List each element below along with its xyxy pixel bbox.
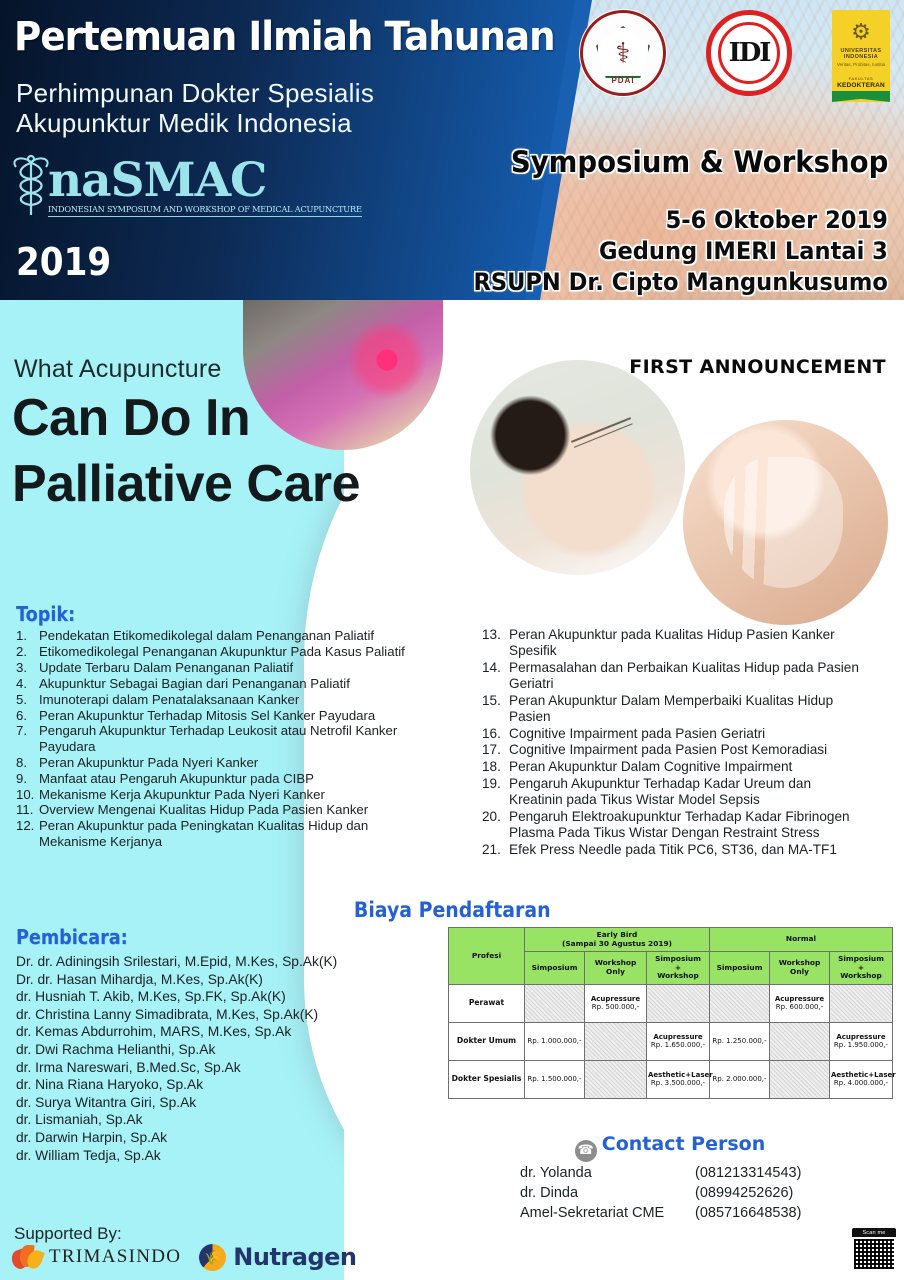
topic-item-number: 8. bbox=[16, 755, 39, 770]
fees-col-n-workshop: Workshop Only bbox=[770, 952, 830, 985]
sponsor-nutragen-name: Nutragen bbox=[233, 1243, 356, 1271]
ui-university-name: UNIVERSITAS INDONESIA bbox=[832, 48, 890, 60]
topic-item-text: Imunoterapi dalam Penatalaksanaan Kanker bbox=[39, 692, 416, 707]
contact-list: dr. Yolanda(081213314543)dr. Dinda(08994… bbox=[520, 1163, 860, 1223]
fees-cell: AcupressureRp. 500.000,- bbox=[585, 984, 647, 1022]
contact-row: dr. Yolanda(081213314543) bbox=[520, 1163, 860, 1183]
topics-heading: Topik: bbox=[16, 602, 368, 626]
fees-cell-price: Rp. 1.500.000,- bbox=[527, 1075, 581, 1083]
topic-item: 17.Cognitive Impairment pada Pasien Post… bbox=[482, 742, 862, 758]
fees-group-early-bird: Early Bird (Sampai 30 Agustus 2019) bbox=[525, 928, 710, 952]
contact-heading-text: Contact Person bbox=[602, 1133, 765, 1155]
qr-code-icon[interactable] bbox=[852, 1237, 896, 1271]
idi-label: IDI bbox=[718, 22, 780, 84]
fees-cell-price: Rp. 1.650.000,- bbox=[651, 1041, 705, 1049]
speaker-item: dr. Husniah T. Akib, M.Kes, Sp.FK, Sp.Ak… bbox=[16, 988, 436, 1006]
topic-item-number: 20. bbox=[482, 809, 509, 841]
idi-logo-icon: IDI bbox=[706, 10, 792, 96]
pdai-snake-icon: ⚕ bbox=[615, 37, 630, 70]
topic-item-text: Peran Akupunktur Dalam Cognitive Impairm… bbox=[509, 759, 862, 775]
theme-headline-line2: Palliative Care bbox=[12, 451, 360, 517]
event-details: 5-6 Oktober 2019 Gedung IMERI Lantai 3 R… bbox=[474, 205, 888, 298]
topic-item-text: Peran Akupunktur Pada Nyeri Kanker bbox=[39, 755, 416, 770]
qr-scan-label: Scan me bbox=[852, 1228, 896, 1237]
first-announcement-badge: FIRST ANNOUNCEMENT bbox=[629, 356, 886, 378]
page-title: Pertemuan Ilmiah Tahunan bbox=[14, 14, 555, 60]
contact-name: Amel-Sekretariat CME bbox=[520, 1203, 695, 1223]
contact-phone[interactable]: (085716648538) bbox=[695, 1203, 801, 1223]
fees-cell-label: Aesthetic+Laser bbox=[831, 1071, 891, 1079]
fees-col-n-simposium: Simposium bbox=[710, 952, 770, 985]
fees-col-n-combo-l3: Workshop bbox=[831, 972, 891, 981]
speaker-item: dr. William Tedja, Sp.Ak bbox=[16, 1147, 436, 1165]
topic-item-number: 15. bbox=[482, 693, 509, 725]
fees-col-n-workshop-l2: Only bbox=[771, 968, 828, 977]
nasmac-logo: naSMAC INDONESIAN SYMPOSIUM AND WORKSHOP… bbox=[8, 155, 375, 217]
fees-cell-label: Aesthetic+Laser bbox=[648, 1071, 708, 1079]
topic-item-number: 10. bbox=[16, 787, 39, 802]
topic-item: 5.Imunoterapi dalam Penatalaksanaan Kank… bbox=[16, 692, 416, 707]
fees-cell: Aesthetic+LaserRp. 4.000.000,- bbox=[830, 1060, 893, 1098]
contact-name: dr. Yolanda bbox=[520, 1163, 695, 1183]
fees-cell: AcupressureRp. 1.950.000,- bbox=[830, 1022, 893, 1060]
event-venue-line1: Gedung IMERI Lantai 3 bbox=[474, 236, 888, 267]
topic-item: 16.Cognitive Impairment pada Pasien Geri… bbox=[482, 726, 862, 742]
fees-table-body: PerawatAcupressureRp. 500.000,-Acupressu… bbox=[449, 984, 893, 1098]
fees-table-header-row-1: Profesi Early Bird (Sampai 30 Agustus 20… bbox=[449, 928, 893, 952]
topic-item-number: 19. bbox=[482, 776, 509, 808]
makara-icon: ⚙ bbox=[851, 19, 871, 45]
fees-cell: AcupressureRp. 1.650.000,- bbox=[647, 1022, 710, 1060]
topics-list-left: 1.Pendekatan Etikomedikolegal dalam Pena… bbox=[16, 628, 416, 849]
supported-by-label: Supported By: bbox=[14, 1224, 122, 1244]
topic-item: 6.Peran Akupunktur Terhadap Mitosis Sel … bbox=[16, 708, 416, 723]
topic-item-number: 14. bbox=[482, 660, 509, 692]
speaker-item: dr. Kemas Abdurrohim, MARS, M.Kes, Sp.Ak bbox=[16, 1023, 436, 1041]
fees-cell-price: Rp. 1.950.000,- bbox=[834, 1041, 888, 1049]
fees-cell: Rp. 1.000.000,- bbox=[525, 1022, 585, 1060]
topic-item-number: 9. bbox=[16, 771, 39, 786]
topic-item: 12.Peran Akupunktur pada Peningkatan Kua… bbox=[16, 818, 416, 849]
topic-item: 7.Pengaruh Akupunktur Terhadap Leukosit … bbox=[16, 723, 416, 754]
topic-item-text: Cognitive Impairment pada Pasien Post Ke… bbox=[509, 742, 862, 758]
sponsor-logos: TRIMASINDO 🌾 Nutragen bbox=[12, 1243, 357, 1271]
topic-item: 4.Akupunktur Sebagai Bagian dari Penanga… bbox=[16, 676, 416, 691]
fees-group-normal: Normal bbox=[710, 928, 893, 952]
fees-cell-label: Acupressure bbox=[771, 995, 828, 1003]
topic-item-text: Pengaruh Akupunktur Terhadap Kadar Ureum… bbox=[509, 776, 862, 808]
fees-cell bbox=[525, 984, 585, 1022]
topic-item: 2.Etikomedikolegal Penanganan Akupunktur… bbox=[16, 644, 416, 659]
speaker-item: dr. Christina Lanny Simadibrata, M.Kes, … bbox=[16, 1006, 436, 1024]
topic-item-text: Peran Akupunktur pada Kualitas Hidup Pas… bbox=[509, 627, 862, 659]
speakers-list: Dr. dr. Adiningsih Srilestari, M.Epid, M… bbox=[16, 953, 436, 1164]
trimasindo-flower-icon bbox=[12, 1244, 42, 1270]
qr-code-block[interactable]: Scan me bbox=[852, 1228, 896, 1271]
speaker-item: dr. Lismaniah, Sp.Ak bbox=[16, 1111, 436, 1129]
contact-phone[interactable]: (08994252626) bbox=[695, 1183, 793, 1203]
speaker-item: dr. Darwin Harpin, Sp.Ak bbox=[16, 1129, 436, 1147]
topic-item-text: Manfaat atau Pengaruh Akupunktur pada CI… bbox=[39, 771, 416, 786]
topics-list-right: 13.Peran Akupunktur pada Kualitas Hidup … bbox=[482, 627, 862, 858]
fees-cell-price: Rp. 600.000,- bbox=[776, 1003, 823, 1011]
topic-item-text: Efek Press Needle pada Titik PC6, ST36, … bbox=[509, 842, 862, 858]
fees-cell: Rp. 2.000.000,- bbox=[710, 1060, 770, 1098]
fees-cell bbox=[770, 1022, 830, 1060]
fees-cell-label: Acupressure bbox=[586, 995, 645, 1003]
contact-phone[interactable]: (081213314543) bbox=[695, 1163, 801, 1183]
topic-item-number: 1. bbox=[16, 628, 39, 643]
topic-item-text: Pengaruh Elektroakupunktur Terhadap Kada… bbox=[509, 809, 862, 841]
topic-item: 13.Peran Akupunktur pada Kualitas Hidup … bbox=[482, 627, 862, 659]
fees-cell: Rp. 1.500.000,- bbox=[525, 1060, 585, 1098]
topic-item-number: 5. bbox=[16, 692, 39, 707]
speaker-item: dr. Irma Nareswari, B.Med.Sc, Sp.Ak bbox=[16, 1059, 436, 1077]
nutragen-wheat-icon: 🌾 bbox=[199, 1244, 226, 1271]
ui-motto: Veritas, Probitas, Iustitia bbox=[837, 62, 885, 67]
fees-cell-price: Rp. 500.000,- bbox=[592, 1003, 639, 1011]
topic-item: 21.Efek Press Needle pada Titik PC6, ST3… bbox=[482, 842, 862, 858]
fees-cell-price: Rp. 4.000.000,- bbox=[834, 1079, 888, 1087]
topic-item-number: 21. bbox=[482, 842, 509, 858]
fees-col-eb-combo-l3: Workshop bbox=[648, 972, 708, 981]
speaker-item: dr. Nina Riana Haryoko, Sp.Ak bbox=[16, 1076, 436, 1094]
topic-item-number: 12. bbox=[16, 818, 39, 849]
topic-item-text: Overview Mengenai Kualitas Hidup Pada Pa… bbox=[39, 802, 416, 817]
organization-subtitle-line2: Akupunktur Medik Indonesia bbox=[16, 108, 374, 138]
topic-item-number: 7. bbox=[16, 723, 39, 754]
fees-heading: Biaya Pendaftaran bbox=[0, 898, 904, 922]
topic-item-text: Pengaruh Akupunktur Terhadap Leukosit at… bbox=[39, 723, 416, 754]
contact-row: dr. Dinda(08994252626) bbox=[520, 1183, 860, 1203]
fees-col-eb-workshop-l2: Only bbox=[586, 968, 645, 977]
topic-item: 18.Peran Akupunktur Dalam Cognitive Impa… bbox=[482, 759, 862, 775]
theme-headline-line1: Can Do In bbox=[12, 385, 360, 451]
organizer-logos: ⚕ PDAI IDI ⚙ UNIVERSITAS INDONESIA Verit… bbox=[580, 10, 890, 102]
fees-col-eb-simposium: Simposium bbox=[525, 952, 585, 985]
topic-item-text: Update Terbaru Dalam Penanganan Paliatif bbox=[39, 660, 416, 675]
fees-row-profesi: Dokter Spesialis bbox=[449, 1060, 525, 1098]
fees-row-profesi: Dokter Umum bbox=[449, 1022, 525, 1060]
phone-icon: ☎ bbox=[575, 1140, 597, 1162]
fees-cell bbox=[585, 1022, 647, 1060]
nasmac-logo-text: naSMAC bbox=[48, 159, 375, 204]
fees-col-n-combo: Simposium + Workshop bbox=[830, 952, 893, 985]
fees-cell-price: Rp. 1.250.000,- bbox=[712, 1037, 766, 1045]
speaker-item: dr. Dwi Rachma Helianthi, Sp.Ak bbox=[16, 1041, 436, 1059]
ui-faculty-logo: ⚙ UNIVERSITAS INDONESIA Veritas, Probita… bbox=[832, 10, 890, 102]
topic-item-text: Mekanisme Kerja Akupunktur Pada Nyeri Ka… bbox=[39, 787, 416, 802]
topic-item-text: Permasalahan dan Perbaikan Kualitas Hidu… bbox=[509, 660, 862, 692]
fees-cell: Rp. 1.250.000,- bbox=[710, 1022, 770, 1060]
topic-item-text: Peran Akupunktur pada Peningkatan Kualit… bbox=[39, 818, 416, 849]
fees-cell-label: Acupressure bbox=[648, 1033, 708, 1041]
topic-item: 1.Pendekatan Etikomedikolegal dalam Pena… bbox=[16, 628, 416, 643]
topic-item-number: 11. bbox=[16, 802, 39, 817]
fees-table-row: Dokter UmumRp. 1.000.000,-AcupressureRp.… bbox=[449, 1022, 893, 1060]
fees-cell bbox=[830, 984, 893, 1022]
topic-item-number: 16. bbox=[482, 726, 509, 742]
topic-item-text: Peran Akupunktur Dalam Memperbaiki Kuali… bbox=[509, 693, 862, 725]
theme-pretitle: What Acupuncture bbox=[14, 355, 222, 384]
topics-section-right: 13.Peran Akupunktur pada Kualitas Hidup … bbox=[482, 625, 862, 858]
fees-cell: AcupressureRp. 600.000,- bbox=[770, 984, 830, 1022]
fees-cell: Aesthetic+LaserRp. 3.500.000,- bbox=[647, 1060, 710, 1098]
fees-cell-label: Acupressure bbox=[831, 1033, 891, 1041]
theme-headline: Can Do In Palliative Care bbox=[12, 385, 360, 517]
topic-item: 15.Peran Akupunktur Dalam Memperbaiki Ku… bbox=[482, 693, 862, 725]
topic-item-number: 2. bbox=[16, 644, 39, 659]
speakers-section: Pembicara: Dr. dr. Adiningsih Srilestari… bbox=[16, 925, 436, 1164]
contact-name: dr. Dinda bbox=[520, 1183, 695, 1203]
topic-item: 3.Update Terbaru Dalam Penanganan Paliat… bbox=[16, 660, 416, 675]
fees-cell-price: Rp. 3.500.000,- bbox=[651, 1079, 705, 1087]
topic-item-number: 3. bbox=[16, 660, 39, 675]
event-date: 5-6 Oktober 2019 bbox=[474, 205, 888, 236]
speakers-heading: Pembicara: bbox=[16, 925, 386, 949]
contact-row: Amel-Sekretariat CME(085716648538) bbox=[520, 1203, 860, 1223]
event-type: Symposium & Workshop bbox=[511, 145, 888, 179]
topic-item: 9.Manfaat atau Pengaruh Akupunktur pada … bbox=[16, 771, 416, 786]
fees-cell bbox=[710, 984, 770, 1022]
poster-root: Pertemuan Ilmiah Tahunan Perhimpunan Dok… bbox=[0, 0, 904, 1280]
topic-item-number: 6. bbox=[16, 708, 39, 723]
organization-subtitle-line1: Perhimpunan Dokter Spesialis bbox=[16, 78, 374, 108]
pdai-logo-icon: ⚕ PDAI bbox=[580, 10, 666, 96]
fees-table: Profesi Early Bird (Sampai 30 Agustus 20… bbox=[448, 927, 893, 1099]
fees-row-profesi: Perawat bbox=[449, 984, 525, 1022]
topic-item-text: Etikomedikolegal Penanganan Akupunktur P… bbox=[39, 644, 416, 659]
topic-item-number: 4. bbox=[16, 676, 39, 691]
sponsor-nutragen: 🌾 Nutragen bbox=[199, 1243, 356, 1271]
topic-item-text: Akupunktur Sebagai Bagian dari Penangana… bbox=[39, 676, 416, 691]
fees-cell bbox=[647, 984, 710, 1022]
topic-item: 19.Pengaruh Akupunktur Terhadap Kadar Ur… bbox=[482, 776, 862, 808]
fees-col-eb-workshop: Workshop Only bbox=[585, 952, 647, 985]
fees-group-early-bird-note: (Sampai 30 Agustus 2019) bbox=[526, 940, 708, 949]
topic-item-text: Cognitive Impairment pada Pasien Geriatr… bbox=[509, 726, 862, 742]
speaker-item: Dr. dr. Adiningsih Srilestari, M.Epid, M… bbox=[16, 953, 436, 971]
photo-hand-massage bbox=[683, 420, 888, 625]
topic-item-number: 13. bbox=[482, 627, 509, 659]
topics-section-left: Topik: 1.Pendekatan Etikomedikolegal dal… bbox=[16, 602, 416, 850]
sponsor-trimasindo-name: TRIMASINDO bbox=[49, 1246, 181, 1268]
topic-item: 8.Peran Akupunktur Pada Nyeri Kanker bbox=[16, 755, 416, 770]
topic-item-text: Peran Akupunktur Terhadap Mitosis Sel Ka… bbox=[39, 708, 416, 723]
ui-faculty-label: FAKULTAS bbox=[849, 76, 874, 81]
pdai-label: PDAI bbox=[583, 76, 663, 85]
fees-col-profesi: Profesi bbox=[449, 928, 525, 985]
topic-item-number: 18. bbox=[482, 759, 509, 775]
ui-faculty-name: KEDOKTERAN bbox=[837, 82, 885, 89]
organization-subtitle: Perhimpunan Dokter Spesialis Akupunktur … bbox=[16, 78, 374, 138]
fees-cell-price: Rp. 1.000.000,- bbox=[527, 1037, 581, 1045]
ui-logo-ribbon bbox=[832, 91, 890, 102]
fees-cell-price: Rp. 2.000.000,- bbox=[712, 1075, 766, 1083]
nasmac-logo-tagline: INDONESIAN SYMPOSIUM AND WORKSHOP OF MED… bbox=[48, 205, 362, 217]
fees-cell bbox=[770, 1060, 830, 1098]
topic-item: 10.Mekanisme Kerja Akupunktur Pada Nyeri… bbox=[16, 787, 416, 802]
topic-item: 20.Pengaruh Elektroakupunktur Terhadap K… bbox=[482, 809, 862, 841]
speaker-item: Dr. dr. Hasan Mihardja, M.Kes, Sp.Ak(K) bbox=[16, 971, 436, 989]
photo-facial-acupuncture bbox=[470, 360, 685, 575]
poster-header: Pertemuan Ilmiah Tahunan Perhimpunan Dok… bbox=[0, 0, 904, 300]
event-venue-line2: RSUPN Dr. Cipto Mangunkusumo bbox=[474, 267, 888, 298]
speaker-item: dr. Surya Witantra Giri, Sp.Ak bbox=[16, 1094, 436, 1112]
fees-cell bbox=[585, 1060, 647, 1098]
event-year: 2019 bbox=[16, 240, 111, 284]
sponsor-trimasindo: TRIMASINDO bbox=[12, 1244, 181, 1270]
topic-item-number: 17. bbox=[482, 742, 509, 758]
topic-item: 14.Permasalahan dan Perbaikan Kualitas H… bbox=[482, 660, 862, 692]
fees-table-row: PerawatAcupressureRp. 500.000,-Acupressu… bbox=[449, 984, 893, 1022]
fees-heading-text: Biaya Pendaftaran bbox=[354, 898, 551, 922]
fees-table-row: Dokter SpesialisRp. 1.500.000,-Aesthetic… bbox=[449, 1060, 893, 1098]
topic-item: 11.Overview Mengenai Kualitas Hidup Pada… bbox=[16, 802, 416, 817]
topic-item-text: Pendekatan Etikomedikolegal dalam Penang… bbox=[39, 628, 416, 643]
contact-heading: ☎Contact Person bbox=[448, 1133, 892, 1162]
fees-col-eb-combo: Simposium + Workshop bbox=[647, 952, 710, 985]
